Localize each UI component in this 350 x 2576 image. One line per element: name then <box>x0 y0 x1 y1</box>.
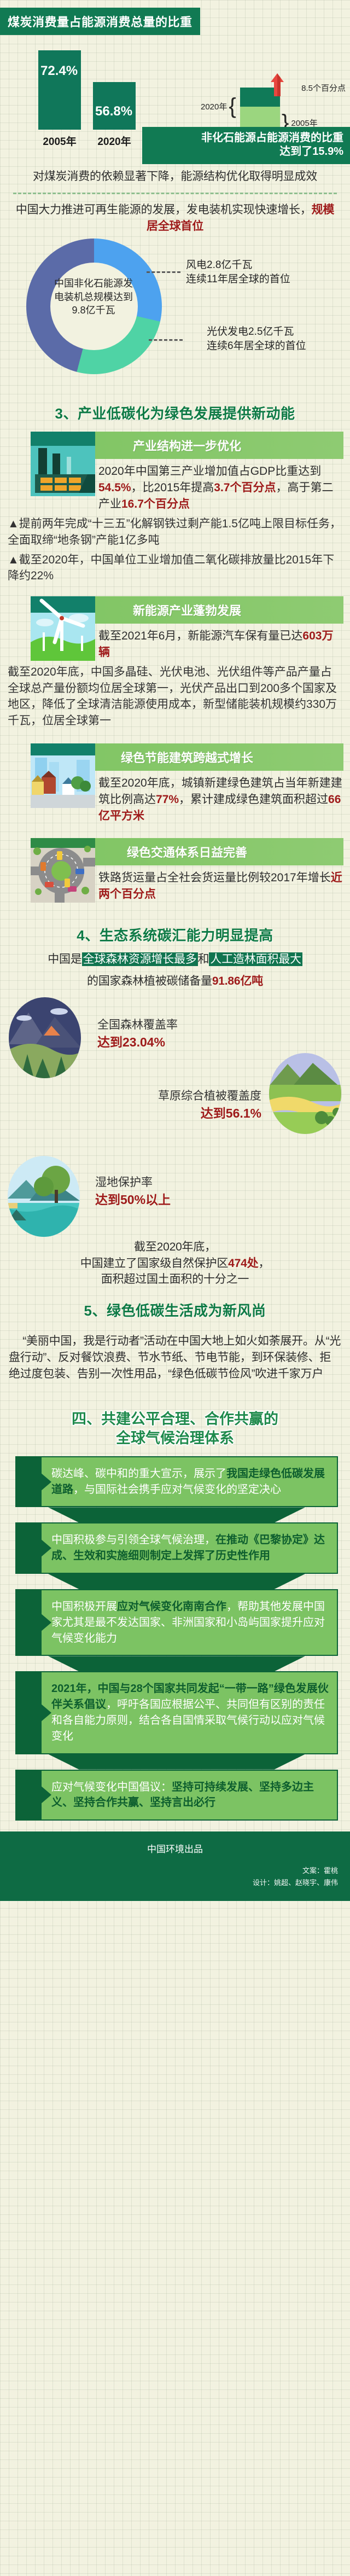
lead-highlight-2: 人工造林面积最大 <box>209 952 302 966</box>
chevron-card-2: 中国积极开展应对气候变化南南合作，帮助其他发展中国家尤其是最不发达国家、非洲国家… <box>15 1589 338 1656</box>
eco-wetland-label: 湿地保护率 <box>95 1176 153 1189</box>
section-four-heading-line2: 全球气候治理体系 <box>16 1429 334 1449</box>
chevron-card-3-text: 2021年，中国与28个国家共同发起“一带一路”绿色发展伙伴关系倡议，呼吁各国应… <box>40 1671 338 1754</box>
donut-callout-wind: 风电2.8亿千瓦 连续11年居全球的首位 <box>186 258 290 286</box>
chevron-card-0-text: 碳达峰、碳中和的重大宣示，展示了我国走绿色低碳发展道路，与国际社会携手应对气候变… <box>40 1456 338 1508</box>
up-arrow-icon <box>271 73 284 96</box>
chevron-left-bar <box>15 1671 40 1754</box>
chevron-card-2-text: 中国积极开展应对气候变化南南合作，帮助其他发展中国家尤其是最不发达国家、非洲国家… <box>40 1589 338 1656</box>
chevron-left-bar <box>15 1522 40 1574</box>
section-4-lead-line2: 的国家森林植被碳储备量91.86亿吨 <box>0 968 350 990</box>
card-new-energy-body: 截至2021年6月，新能源汽车保有量已达603万辆 <box>98 624 343 661</box>
card-industry-structure: 产业结构进一步优化 2020年中国第三产业增加值占GDP比重达到54.5%，比2… <box>0 432 350 584</box>
lead-pre: 中国是 <box>48 953 81 966</box>
coal-chart-title: 煤炭消费量占能源消费总量的比重 <box>0 8 200 35</box>
section-four-heading-line1: 四、共建公平合理、合作共赢的 <box>16 1410 334 1429</box>
forest-mountain-icon <box>9 997 81 1078</box>
coal-bar-2005-label: 2005年 <box>35 133 84 148</box>
chevron-arrow-icon <box>40 1786 51 1804</box>
section-3-heading: 3、产业低碳化为绿色发展提供新动能 <box>0 394 350 429</box>
summary-text-1: 对煤炭消费的依赖显著下降，能源结构优化取得明显成效 <box>0 164 350 185</box>
donut-center-label: 中国非化石能源发 电装机总规模达到 9.8亿千瓦 <box>34 277 153 317</box>
donut-leader-wind <box>147 271 180 273</box>
card-industry-body: 2020年中国第三产业增加值占GDP比重达到54.5%，比2015年提高3.7个… <box>98 459 343 512</box>
factory-icon <box>31 432 95 496</box>
summary-2-plain: 中国大力推进可再生能源的发展，发电装机实现快速增长， <box>16 203 312 216</box>
wind-turbine-icon <box>31 596 95 661</box>
grassland-icon <box>269 1053 341 1134</box>
climate-governance-chevron-list: 碳达峰、碳中和的重大宣示，展示了我国走绿色低碳发展道路，与国际社会携手应对气候变… <box>15 1456 338 1821</box>
chevron-left-bar <box>15 1456 40 1508</box>
coal-bar-2005-value: 72.4% <box>40 63 78 79</box>
eco-grassland-text: 草原综合植被覆盖度 达到56.1% <box>119 1088 261 1123</box>
eco-wetland-text: 湿地保护率 达到50%以上 <box>95 1174 171 1210</box>
chevron-left-bar <box>15 1589 40 1656</box>
lead-line2-pre: 的国家森林植被碳储备量 <box>87 975 212 987</box>
eco-stat-grassland: 草原综合植被覆盖度 达到56.1% <box>0 1073 350 1154</box>
card-industry-extra-1: ▲截至2020年，中国单位工业增加值二氧化碳排放量比2015年下降约22% <box>0 549 350 585</box>
nonfossil-delta-note: 8.5个百分点 <box>301 82 346 94</box>
footer-title: 中国环境出品 <box>0 1841 350 1855</box>
nonfossil-banner-line2: 达到了15.9% <box>156 145 343 159</box>
chevron-connector-0 <box>15 1507 338 1522</box>
eco-wetland-value: 达到50%以上 <box>95 1191 171 1209</box>
closing-line2-post: ， <box>258 1257 270 1270</box>
footer: 中国环境出品 文案：霍桃 设计：姚超、赵晓宇、康伟 <box>0 1831 350 1901</box>
closing-line1: 截至2020年底， <box>11 1239 339 1255</box>
closing-line2-value: 474处 <box>228 1257 258 1270</box>
coal-consumption-chart: 煤炭消费量占能源消费总量的比重 72.4% 2005年 56.8% 2020年 … <box>0 0 350 164</box>
donut-callout-solar: 光伏发电2.5亿千瓦 连续6年居全球的首位 <box>207 325 306 353</box>
chevron-connector-2 <box>15 1656 338 1671</box>
callout-solar-line1: 光伏发电2.5亿千瓦 <box>207 325 306 339</box>
eco-grassland-value: 达到56.1% <box>119 1104 261 1123</box>
callout-solar-line2: 连续6年居全球的首位 <box>207 339 306 353</box>
lead-highlight-1: 全球森林资源增长最多 <box>82 952 198 966</box>
city-buildings-icon <box>31 743 95 808</box>
renewable-donut-chart: 中国非化石能源发 电装机总规模达到 9.8亿千瓦 风电2.8亿千瓦 连续11年居… <box>0 234 350 394</box>
lead-line2-value: 91.86亿吨 <box>212 975 263 987</box>
eco-stat-wetland: 湿地保护率 达到50%以上 <box>0 1156 350 1237</box>
roundabout-traffic-icon <box>31 838 95 903</box>
nonfossil-banner: 非化石能源占能源消费的比重 达到了15.9% <box>142 127 350 164</box>
callout-wind-line2: 连续11年居全球的首位 <box>186 272 290 287</box>
infographic-page: 煤炭消费量占能源消费总量的比重 72.4% 2005年 56.8% 2020年 … <box>0 0 350 1901</box>
section-4-closing: 截至2020年底， 中国建立了国家级自然保护区474处， 面积超过国土面积的十分… <box>0 1237 350 1288</box>
chevron-arrow-icon <box>40 1703 51 1722</box>
chevron-arrow-icon <box>40 1613 51 1632</box>
chevron-connector-1 <box>15 1574 338 1589</box>
eco-forest-label: 全国森林覆盖率 <box>97 1019 178 1031</box>
section-4-lead-line1: 中国是全球森林资源增长最多和人工造林面积最大 <box>0 951 350 968</box>
eco-grassland-label: 草原综合植被覆盖度 <box>158 1090 261 1102</box>
coal-bar-2020-value: 56.8% <box>95 104 132 119</box>
card-new-energy-extra-0: 截至2020年底，中国多晶硅、光伏电池、光伏组件等产品产量占全球总产量份额均位居… <box>0 661 350 729</box>
chevron-card-1: 中国积极参与引领全球气候治理，在推动《巴黎协定》达成、生效和实施细则制定上发挥了… <box>15 1522 338 1574</box>
card-green-transport: 绿色交通体系日益完善 铁路货运量占全社会货运量比例较2017年增长近两个百分点 <box>0 838 350 903</box>
card-new-energy: 新能源产业蓬勃发展 截至2021年6月，新能源汽车保有量已达603万辆 截至20… <box>0 596 350 729</box>
chevron-arrow-icon <box>40 1539 51 1557</box>
wetland-icon <box>8 1156 80 1237</box>
section-4-heading: 4、生态系统碳汇能力明显提高 <box>0 903 350 951</box>
nonfossil-2020-bracket: 2020年 { <box>201 97 236 115</box>
closing-line3: 面积超过国土面积的十分之一 <box>11 1271 339 1288</box>
eco-forest-text: 全国森林覆盖率 达到23.04% <box>97 1017 178 1052</box>
summary-text-2: 中国大力推进可再生能源的发展，发电装机实现快速增长，规模居全球首位 <box>0 202 350 235</box>
chevron-card-3: 2021年，中国与28个国家共同发起“一带一路”绿色发展伙伴关系倡议，呼吁各国应… <box>15 1671 338 1754</box>
donut-center-line2: 电装机总规模达到 <box>34 290 153 304</box>
callout-wind-line1: 风电2.8亿千瓦 <box>186 258 290 272</box>
closing-line2-pre: 中国建立了国家级自然保护区 <box>80 1257 228 1270</box>
card-green-transport-body: 铁路货运量占全社会货运量比例较2017年增长近两个百分点 <box>98 865 343 903</box>
lead-mid: 和 <box>198 953 209 966</box>
card-green-building: 绿色节能建筑跨越式增长 截至2020年底，城镇新建绿色建筑占当年新建建筑比例高达… <box>0 743 350 824</box>
divider <box>13 193 337 194</box>
nonfossil-banner-line1: 非化石能源占能源消费的比重 <box>156 131 343 145</box>
card-green-building-body: 截至2020年底，城镇新建绿色建筑占当年新建建筑比例高达77%，累计建成绿色建筑… <box>98 771 343 824</box>
eco-forest-value: 达到23.04% <box>97 1033 178 1051</box>
coal-bar-2020: 56.8% <box>93 82 136 130</box>
footer-credit-2: 设计：姚超、赵晓宇、康伟 <box>0 1877 350 1889</box>
donut-center-line1: 中国非化石能源发 <box>34 277 153 290</box>
coal-bar-2005: 72.4% <box>38 50 81 130</box>
nonfossil-2020-label: 2020年 <box>201 101 227 112</box>
card-industry-extra-0: ▲提前两年完成“十三五”化解钢铁过剩产能1.5亿吨上限目标任务，全面取缔“地条钢… <box>0 513 350 549</box>
chevron-arrow-icon <box>40 1473 51 1491</box>
section-5-paragraph: “美丽中国，我是行动者”活动在中国大地上如火如荼展开。从“光盘行动”、反对餐饮浪… <box>0 1327 350 1382</box>
chevron-card-0: 碳达峰、碳中和的重大宣示，展示了我国走绿色低碳发展道路，与国际社会携手应对气候变… <box>15 1456 338 1508</box>
chevron-card-4-text: 应对气候变化中国倡议：坚持可持续发展、坚持多边主义、坚持合作共赢、坚持言出必行 <box>40 1770 338 1821</box>
chevron-card-1-text: 中国积极参与引领全球气候治理，在推动《巴黎协定》达成、生效和实施细则制定上发挥了… <box>40 1522 338 1574</box>
section-four-heading: 四、共建公平合理、合作共赢的 全球气候治理体系 <box>0 1401 350 1456</box>
footer-credit-1: 文案：霍桃 <box>0 1865 350 1877</box>
coal-bar-2020-label: 2020年 <box>90 133 139 148</box>
donut-leader-solar <box>149 339 183 341</box>
donut-center-line3: 9.8亿千瓦 <box>34 304 153 317</box>
chevron-left-bar <box>15 1770 40 1821</box>
chevron-card-4: 应对气候变化中国倡议：坚持可持续发展、坚持多边主义、坚持合作共赢、坚持言出必行 <box>15 1770 338 1821</box>
closing-line2: 中国建立了国家级自然保护区474处， <box>11 1255 339 1272</box>
section-5-heading: 5、绿色低碳生活成为新风尚 <box>0 1288 350 1327</box>
chevron-connector-3 <box>15 1754 338 1770</box>
